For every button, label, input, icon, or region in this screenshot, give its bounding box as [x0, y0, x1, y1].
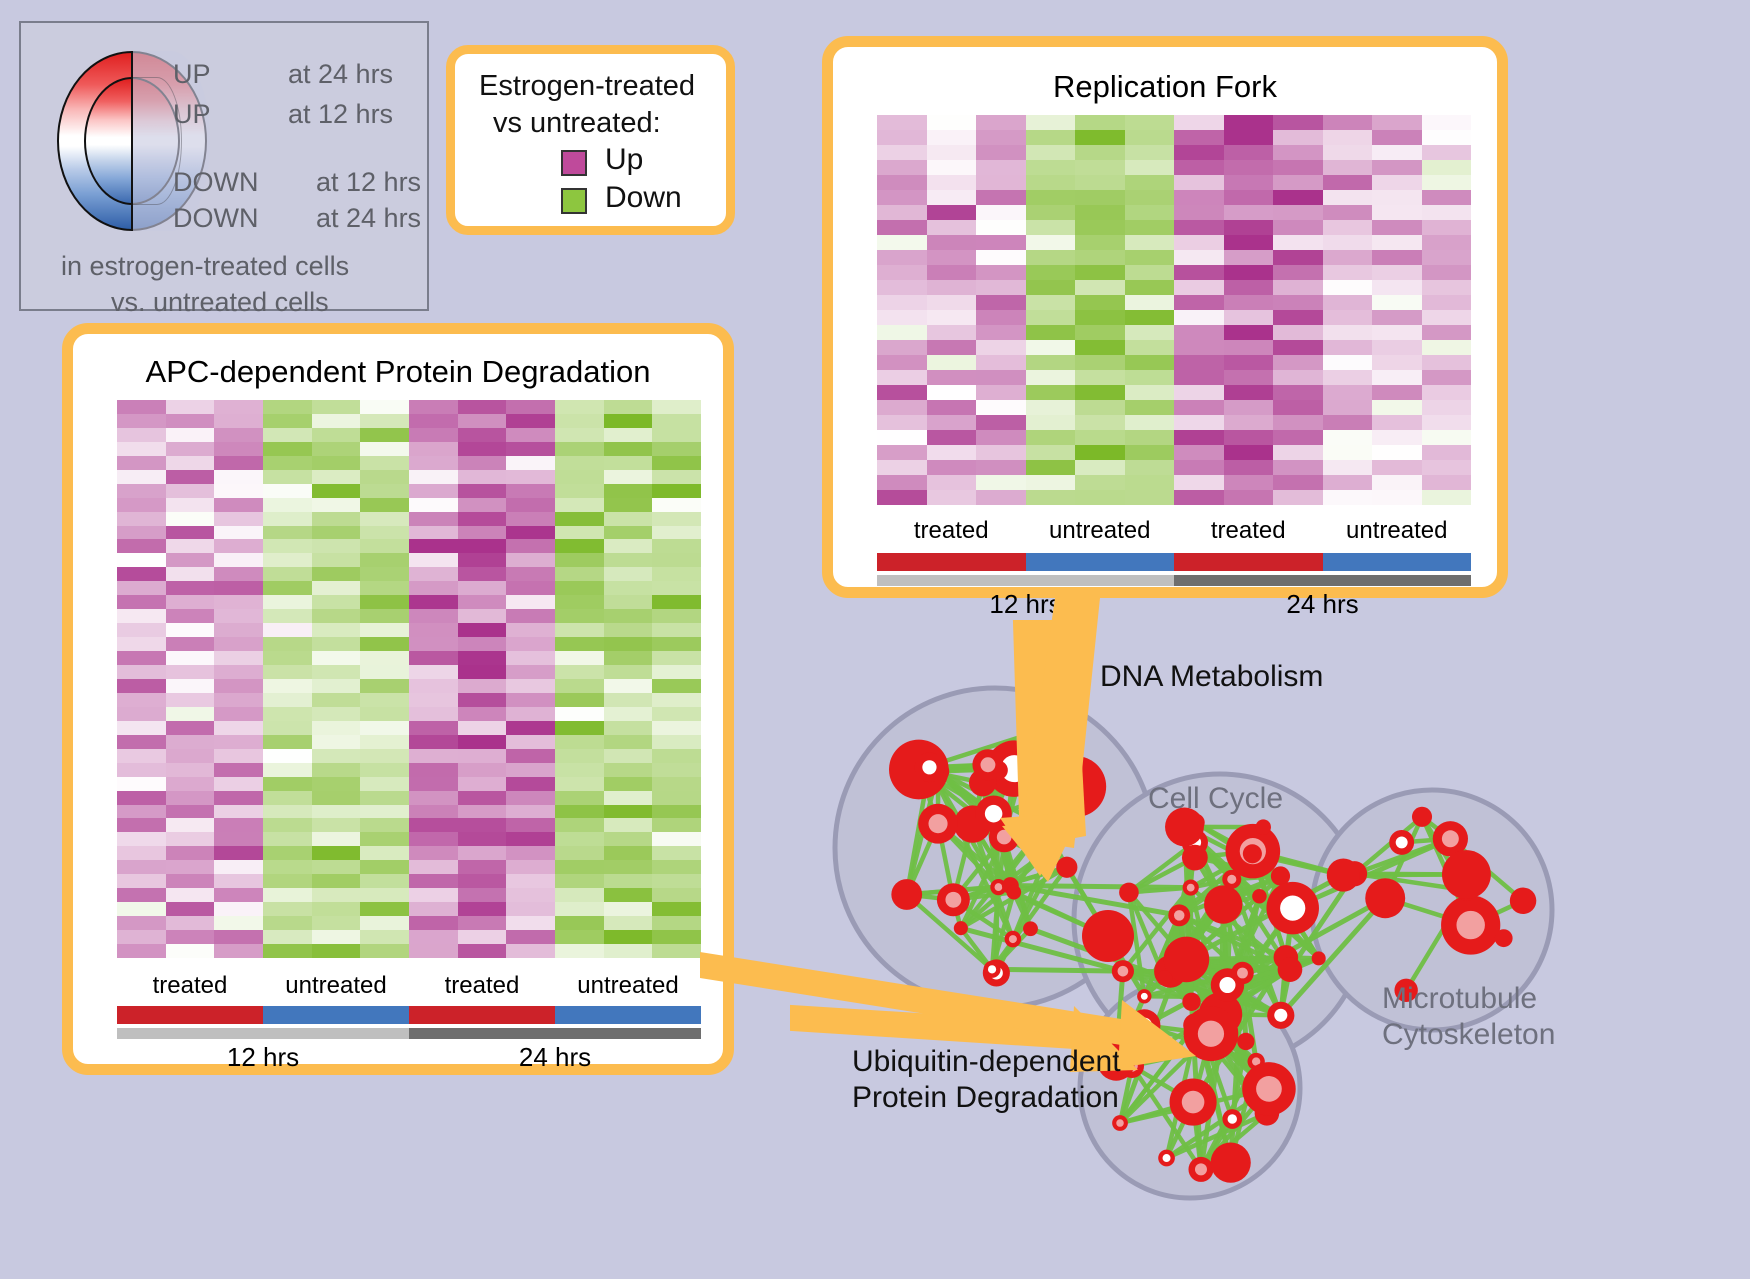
- heatmap-cell: [1125, 205, 1175, 220]
- heatmap-cell: [1273, 325, 1323, 340]
- heatmap-cell: [214, 567, 263, 581]
- heatmap-cell: [1273, 175, 1323, 190]
- heatmap-cell: [263, 400, 312, 414]
- heatmap-cell: [1075, 400, 1125, 415]
- heatmap-cell: [117, 777, 166, 791]
- heatmap-cell: [604, 818, 653, 832]
- heatmap-cell: [409, 539, 458, 553]
- heatmap-cell: [555, 916, 604, 930]
- heatmap-cell: [409, 498, 458, 512]
- heatmap-cell: [1125, 265, 1175, 280]
- heatmap-cell: [1075, 250, 1125, 265]
- network-node-inner: [1116, 1119, 1124, 1127]
- heatmap-cell: [360, 498, 409, 512]
- heatmap-cell: [409, 749, 458, 763]
- heatmap-cell: [1224, 385, 1274, 400]
- heatmap-cell: [506, 791, 555, 805]
- heatmap-cell: [1224, 445, 1274, 460]
- group-color-bar-replication-fork: [877, 553, 1471, 571]
- heatmap-cell: [1026, 115, 1076, 130]
- heatmap-cell: [927, 280, 977, 295]
- heatmap-cell: [117, 735, 166, 749]
- heatmap-cell: [1323, 115, 1373, 130]
- time-bar-24hrs: [409, 1028, 701, 1039]
- heatmap-cell: [555, 944, 604, 958]
- legend-time-down-12: at 12 hrs: [316, 167, 421, 198]
- heatmap-cell: [263, 707, 312, 721]
- heatmap-cell: [214, 735, 263, 749]
- heatmap-cell: [877, 115, 927, 130]
- heatmap-cell: [877, 235, 927, 250]
- heatmap-cell: [506, 456, 555, 470]
- heatmap-cell: [458, 428, 507, 442]
- heatmap-cell: [652, 874, 701, 888]
- heatmap-cell: [360, 539, 409, 553]
- network-node: [1082, 910, 1134, 962]
- heatmap-cell: [1026, 250, 1076, 265]
- heatmap-cell: [1372, 385, 1422, 400]
- heatmap-cell: [1125, 175, 1175, 190]
- heatmap-cell: [877, 475, 927, 490]
- heatmap-cell: [117, 665, 166, 679]
- heatmap-cell: [166, 860, 215, 874]
- heatmap-cell: [312, 763, 361, 777]
- heatmap-cell: [604, 707, 653, 721]
- heatmap-cell: [214, 498, 263, 512]
- heatmap-cell: [312, 679, 361, 693]
- heatmap-cell: [877, 325, 927, 340]
- heatmap-cell: [312, 888, 361, 902]
- heatmap-cell: [652, 707, 701, 721]
- heatmap-cell: [1422, 355, 1472, 370]
- heatmap-cell: [1026, 460, 1076, 475]
- heatmap-cell: [312, 456, 361, 470]
- heatmap-cell: [263, 553, 312, 567]
- heatmap-cell: [877, 460, 927, 475]
- heatmap-cell: [166, 428, 215, 442]
- heatmap-cell: [1174, 265, 1224, 280]
- cluster-label-ubiquitin-line1: Ubiquitin-dependent: [852, 1045, 1121, 1079]
- heatmap-cell: [409, 818, 458, 832]
- heatmap-cell: [458, 860, 507, 874]
- heatmap-cell: [312, 609, 361, 623]
- heatmap-cell: [166, 414, 215, 428]
- heatmap-cell: [877, 250, 927, 265]
- heatmap-cell: [976, 370, 1026, 385]
- heatmap-cell: [1075, 475, 1125, 490]
- heatmap-cell: [506, 916, 555, 930]
- heatmap-cell: [652, 498, 701, 512]
- untreated-bar: [263, 1006, 409, 1024]
- heatmap-cell: [117, 805, 166, 819]
- group-label: untreated: [263, 972, 409, 1000]
- heatmap-cell: [1075, 340, 1125, 355]
- heatmap-cell: [1273, 355, 1323, 370]
- heatmap-cell: [604, 470, 653, 484]
- heatmap-cell: [458, 874, 507, 888]
- heatmap-cell: [506, 400, 555, 414]
- heatmap-cell: [555, 735, 604, 749]
- legend-label-up: Up: [605, 143, 643, 177]
- heatmap-cell: [1323, 235, 1373, 250]
- heatmap-cell: [166, 735, 215, 749]
- heatmap-cell: [1125, 490, 1175, 505]
- heatmap-cell: [1224, 250, 1274, 265]
- heatmap-cell: [214, 805, 263, 819]
- heatmap-cell: [555, 595, 604, 609]
- heatmap-cell: [117, 414, 166, 428]
- network-node-inner: [1187, 884, 1195, 892]
- network-node: [1211, 1143, 1251, 1183]
- heatmap-cell: [976, 355, 1026, 370]
- heatmap-cell: [1224, 415, 1274, 430]
- heatmap-cell: [166, 777, 215, 791]
- heatmap-cell: [555, 456, 604, 470]
- heatmap-cell: [214, 930, 263, 944]
- heatmap-cell: [927, 175, 977, 190]
- heatmap-cell: [1026, 430, 1076, 445]
- heatmap-cell: [1026, 145, 1076, 160]
- time-label: 24 hrs: [1174, 589, 1471, 620]
- group-label: treated: [877, 517, 1026, 545]
- heatmap-cell: [360, 888, 409, 902]
- heatmap-cell: [1422, 265, 1472, 280]
- heatmap-cell: [927, 385, 977, 400]
- heatmap-cell: [1372, 460, 1422, 475]
- heatmap-cell: [1422, 475, 1472, 490]
- group-color-bar-apc: [117, 1006, 701, 1024]
- heatmap-cell: [652, 623, 701, 637]
- heatmap-cell: [409, 707, 458, 721]
- heatmap-cell: [166, 484, 215, 498]
- heatmap-cell: [1125, 250, 1175, 265]
- heatmap-cell: [360, 791, 409, 805]
- heatmap-cell: [1125, 460, 1175, 475]
- heatmap-cell: [1372, 265, 1422, 280]
- heatmap-cell: [263, 637, 312, 651]
- legend-card-title-line2: vs untreated:: [493, 107, 661, 140]
- heatmap-cell: [604, 456, 653, 470]
- heatmap-cell: [1026, 235, 1076, 250]
- heatmap-cell: [555, 902, 604, 916]
- heatmap-cell: [1372, 475, 1422, 490]
- heatmap-cell: [312, 637, 361, 651]
- heatmap-cell: [506, 428, 555, 442]
- heatmap-cell: [214, 888, 263, 902]
- heatmap-cell: [312, 944, 361, 958]
- heatmap-cell: [1273, 205, 1323, 220]
- group-label: treated: [409, 972, 555, 1000]
- heatmap-cell: [506, 693, 555, 707]
- time-color-bar-apc: [117, 1028, 701, 1039]
- heatmap-cell: [458, 707, 507, 721]
- heatmap-cell: [1125, 310, 1175, 325]
- heatmap-cell: [166, 763, 215, 777]
- heatmap-cell: [1422, 460, 1472, 475]
- heatmap-cell: [555, 888, 604, 902]
- heatmap-cell: [263, 595, 312, 609]
- heatmap-cell: [214, 749, 263, 763]
- heatmap-cell: [1372, 235, 1422, 250]
- time-labels-replication-fork: 12 hrs 24 hrs: [877, 589, 1471, 620]
- heatmap-cell: [1372, 445, 1422, 460]
- heatmap-cell: [1075, 325, 1125, 340]
- heatmap-cell: [117, 609, 166, 623]
- heatmap-cell: [652, 818, 701, 832]
- group-label: untreated: [555, 972, 701, 1000]
- heatmap-cell: [506, 777, 555, 791]
- heatmap-cell: [604, 428, 653, 442]
- heatmap-cell: [877, 445, 927, 460]
- heatmap-cell: [409, 400, 458, 414]
- heatmap-cell: [166, 916, 215, 930]
- heatmap-cell: [1372, 340, 1422, 355]
- heatmap-cell: [409, 679, 458, 693]
- legend-state-up-12: UP: [173, 99, 211, 130]
- heatmap-cell: [1422, 205, 1472, 220]
- network-node: [954, 921, 968, 935]
- heatmap-cell: [117, 637, 166, 651]
- heatmap-cell: [604, 791, 653, 805]
- legend-state-down-24: DOWN: [173, 203, 258, 234]
- heatmap-cell: [166, 665, 215, 679]
- heatmap-cell: [214, 818, 263, 832]
- heatmap-cell: [652, 581, 701, 595]
- heatmap-cell: [263, 414, 312, 428]
- network-node: [891, 879, 922, 910]
- heatmap-cell: [1174, 325, 1224, 340]
- heatmap-cell: [458, 609, 507, 623]
- heatmap-cell: [927, 310, 977, 325]
- heatmap-cell: [1125, 325, 1175, 340]
- heatmap-cell: [263, 777, 312, 791]
- heatmap-cell: [458, 470, 507, 484]
- network-node: [1007, 885, 1022, 900]
- heatmap-cell: [1075, 115, 1125, 130]
- time-label: 12 hrs: [117, 1042, 409, 1073]
- heatmap-cell: [1422, 220, 1472, 235]
- heatmap-cell: [506, 721, 555, 735]
- heatmap-cell: [976, 430, 1026, 445]
- heatmap-cell: [409, 484, 458, 498]
- heatmap-cell: [1273, 190, 1323, 205]
- network-node-inner: [1174, 910, 1184, 920]
- heatmap-cell: [652, 930, 701, 944]
- heatmap-cell: [1224, 190, 1274, 205]
- heatmap-cell: [117, 651, 166, 665]
- heatmap-cell: [652, 414, 701, 428]
- heatmap-cell: [117, 512, 166, 526]
- heatmap-cell: [1273, 295, 1323, 310]
- heatmap-cell: [652, 791, 701, 805]
- heatmap-cell: [506, 526, 555, 540]
- heatmap-cell: [360, 526, 409, 540]
- heatmap-cell: [409, 526, 458, 540]
- heatmap-cell: [1422, 430, 1472, 445]
- legend-card-title-line1: Estrogen-treated: [479, 70, 695, 103]
- heatmap-cell: [360, 735, 409, 749]
- network-svg: [790, 620, 1750, 1279]
- heatmap-cell: [117, 763, 166, 777]
- heatmap-cell: [263, 763, 312, 777]
- network-node: [1412, 807, 1432, 827]
- heatmap-cell: [312, 721, 361, 735]
- heatmap-cell: [927, 490, 977, 505]
- heatmap-cell: [166, 846, 215, 860]
- heatmap-cell: [1323, 355, 1373, 370]
- legend-swatch-up: [561, 150, 587, 176]
- network-node-inner: [1198, 1021, 1224, 1047]
- heatmap-cell: [652, 512, 701, 526]
- network-node-inner: [928, 814, 947, 833]
- heatmap-cell: [1273, 235, 1323, 250]
- heatmap-cell: [1273, 220, 1323, 235]
- heatmap-cell: [458, 595, 507, 609]
- heatmap-cell: [360, 749, 409, 763]
- heatmap-cell: [1174, 340, 1224, 355]
- network-node-inner: [1137, 1018, 1152, 1033]
- heatmap-cell: [263, 539, 312, 553]
- heatmap-cell: [555, 609, 604, 623]
- heatmap-cell: [604, 693, 653, 707]
- heatmap-cell: [604, 888, 653, 902]
- panel-title-replication-fork: Replication Fork: [833, 69, 1497, 105]
- heatmap-cell: [1372, 250, 1422, 265]
- heatmap-cell: [506, 818, 555, 832]
- heatmap-cell: [927, 235, 977, 250]
- heatmap-cell: [877, 310, 927, 325]
- heatmap-cell: [263, 735, 312, 749]
- heatmap-cell: [166, 930, 215, 944]
- heatmap-cell: [360, 456, 409, 470]
- heatmap-cell: [214, 428, 263, 442]
- heatmap-cell: [604, 581, 653, 595]
- heatmap-cell: [166, 693, 215, 707]
- heatmap-cell: [409, 693, 458, 707]
- heatmap-cell: [1422, 490, 1472, 505]
- heatmap-cell: [652, 526, 701, 540]
- heatmap-cell: [360, 512, 409, 526]
- heatmap-cell: [1026, 265, 1076, 280]
- network-edge: [992, 969, 1123, 971]
- heatmap-cell: [1026, 475, 1076, 490]
- heatmap-cell: [604, 526, 653, 540]
- heatmap-cell: [117, 623, 166, 637]
- heatmap-cell: [409, 902, 458, 916]
- heatmap-cell: [458, 581, 507, 595]
- heatmap-cell: [1323, 475, 1373, 490]
- heatmap-cell: [1372, 130, 1422, 145]
- heatmap-cell: [604, 805, 653, 819]
- heatmap-cell: [117, 818, 166, 832]
- heatmap-cell: [927, 190, 977, 205]
- heatmap-cell: [877, 220, 927, 235]
- heatmap-cell: [214, 693, 263, 707]
- legend-caption-line1: in estrogen-treated cells: [61, 251, 349, 282]
- heatmap-cell: [1224, 490, 1274, 505]
- network-node: [1278, 957, 1303, 982]
- heatmap-cell: [263, 944, 312, 958]
- heatmap-cell: [263, 665, 312, 679]
- cluster-label-microtubule-line2: Cytoskeleton: [1382, 1018, 1555, 1052]
- panel-title-apc: APC-dependent Protein Degradation: [73, 354, 723, 390]
- heatmap-cell: [1174, 370, 1224, 385]
- heatmap-cell: [214, 651, 263, 665]
- heatmap-cell: [1224, 235, 1274, 250]
- heatmap-cell: [117, 707, 166, 721]
- heatmap-cell: [976, 115, 1026, 130]
- heatmap-cell: [927, 145, 977, 160]
- heatmap-cell: [652, 763, 701, 777]
- heatmap-cell: [214, 763, 263, 777]
- heatmap-cell: [1075, 280, 1125, 295]
- heatmap-cell: [1075, 430, 1125, 445]
- heatmap-cell: [214, 777, 263, 791]
- heatmap-cell: [166, 470, 215, 484]
- heatmap-cell: [555, 818, 604, 832]
- heatmap-cell: [1422, 415, 1472, 430]
- heatmap-cell: [1273, 250, 1323, 265]
- group-label: untreated: [1026, 517, 1175, 545]
- legend-state-up-24: UP: [173, 59, 211, 90]
- heatmap-cell: [166, 888, 215, 902]
- heatmap-cell: [652, 916, 701, 930]
- heatmap-cell: [1125, 445, 1175, 460]
- heatmap-cell: [976, 190, 1026, 205]
- heatmap-cell: [117, 526, 166, 540]
- heatmap-cell: [976, 400, 1026, 415]
- heatmap-cell: [555, 791, 604, 805]
- time-bar-12hrs: [877, 575, 1174, 586]
- heatmap-cell: [214, 581, 263, 595]
- heatmap-cell: [1174, 130, 1224, 145]
- heatmap-cell: [263, 930, 312, 944]
- heatmap-cell: [506, 470, 555, 484]
- heatmap-cell: [1323, 430, 1373, 445]
- heatmap-cell: [1323, 205, 1373, 220]
- heatmap-cell: [1422, 400, 1472, 415]
- heatmap-cell: [877, 145, 927, 160]
- heatmap-cell: [1026, 310, 1076, 325]
- heatmap-cell: [263, 860, 312, 874]
- heatmap-cell: [877, 295, 927, 310]
- group-labels-replication-fork: treated untreated treated untreated: [877, 517, 1471, 545]
- heatmap-cell: [506, 595, 555, 609]
- heatmap-cell: [214, 539, 263, 553]
- heatmap-cell: [506, 665, 555, 679]
- heatmap-cell: [1075, 370, 1125, 385]
- heatmap-cell: [1026, 295, 1076, 310]
- heatmap-cell: [604, 777, 653, 791]
- heatmap-cell: [652, 721, 701, 735]
- treated-bar: [1174, 553, 1323, 571]
- heatmap-cell: [1273, 475, 1323, 490]
- heatmap-cell: [458, 721, 507, 735]
- network-node: [1495, 929, 1513, 947]
- heatmap-cell: [409, 860, 458, 874]
- heatmap-cell: [1273, 310, 1323, 325]
- heatmap-cell: [312, 791, 361, 805]
- heatmap-cell: [409, 567, 458, 581]
- heatmap-cell: [555, 832, 604, 846]
- heatmap-cell: [1075, 160, 1125, 175]
- heatmap-cell: [652, 442, 701, 456]
- heatmap-cell: [1422, 340, 1472, 355]
- heatmap-cell: [409, 595, 458, 609]
- network-node: [1327, 859, 1360, 892]
- heatmap-cell: [117, 874, 166, 888]
- heatmap-cell: [1422, 445, 1472, 460]
